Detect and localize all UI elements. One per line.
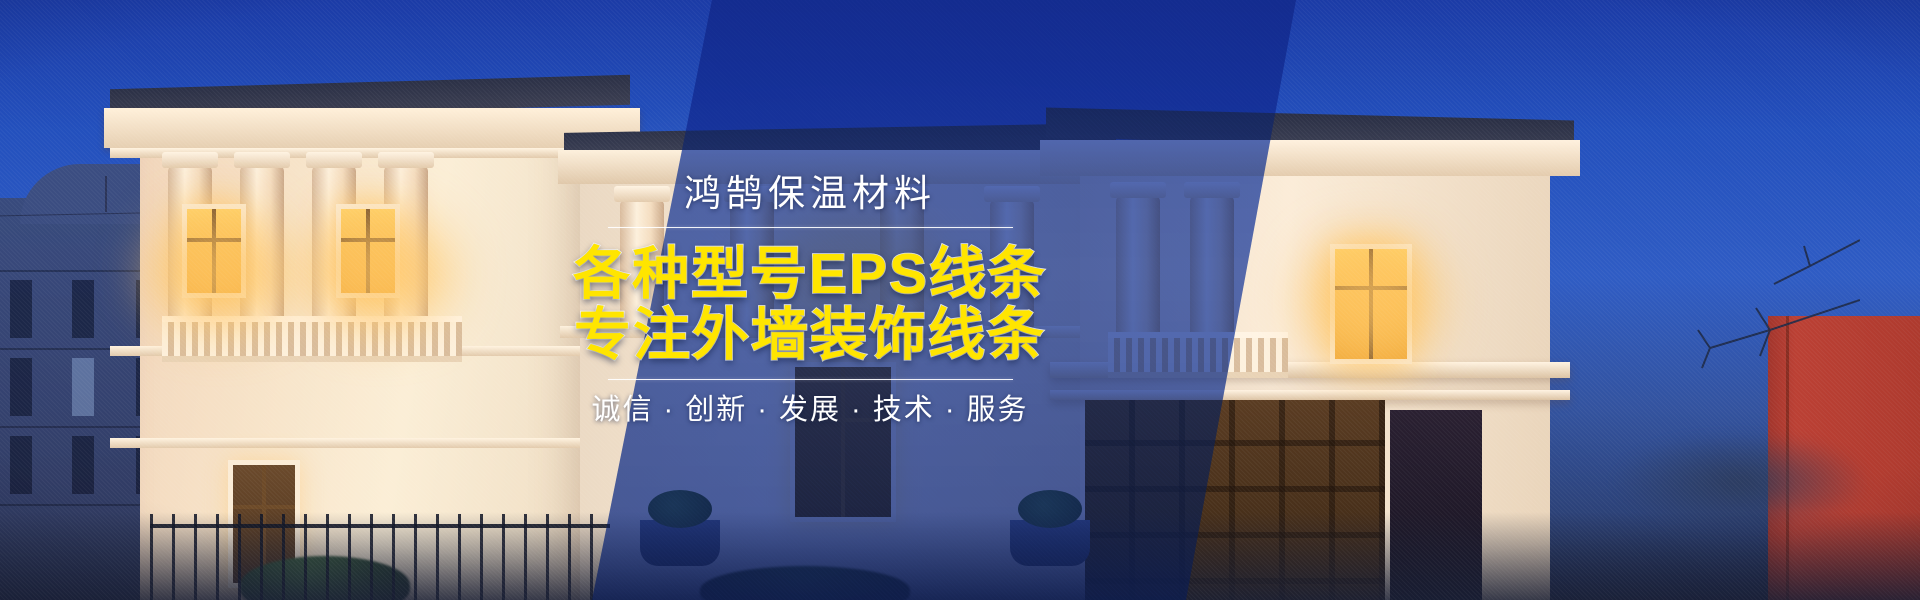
brand-title: 鸿鹄保温材料	[684, 175, 936, 212]
cornice-right	[1040, 140, 1580, 176]
headline-line-2: 专注外墙装饰线条	[573, 305, 1047, 366]
tagline: 诚信 · 创新 · 发展 · 技术 · 服务	[591, 396, 1028, 425]
divider-top	[608, 227, 1013, 228]
bare-tree-branch-icon	[1560, 180, 1860, 410]
divider-bottom	[608, 379, 1013, 380]
antenna	[105, 176, 107, 212]
banner-text-block: 鸿鹄保温材料 各种型号EPS线条 专注外墙装饰线条 诚信 · 创新 · 发展 ·…	[560, 0, 1060, 600]
headline-line-1: 各种型号EPS线条	[573, 244, 1047, 305]
hero-banner: 鸿鹄保温材料 各种型号EPS线条 专注外墙装饰线条 诚信 · 创新 · 发展 ·…	[0, 0, 1920, 600]
headline-group: 各种型号EPS线条 专注外墙装饰线条	[573, 244, 1047, 366]
